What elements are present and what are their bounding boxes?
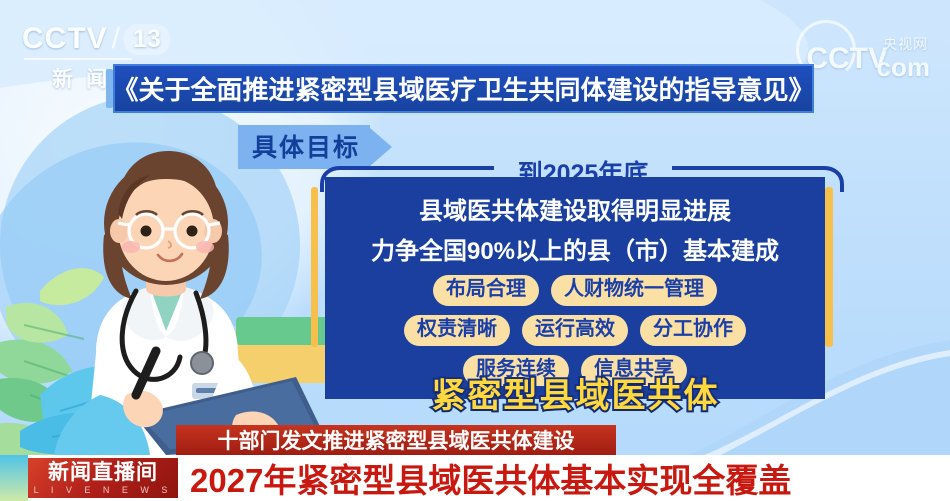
pill-row-1: 布局合理 人财物统一管理 xyxy=(325,275,825,306)
goal-pill: 权责清晰 xyxy=(404,315,510,346)
pill-row-2: 权责清晰 运行高效 分工协作 xyxy=(325,315,825,346)
goal-pill: 人财物统一管理 xyxy=(551,275,717,306)
document-title-banner: 《关于全面推进紧密型县域医疗卫生共同体建设的指导意见》 xyxy=(113,64,814,113)
card-body: 县域医共体建设取得明显进展 力争全国90%以上的县（市）基本建成 布局合理 人财… xyxy=(325,177,825,399)
card-line-1: 县域医共体建设取得明显进展 xyxy=(325,191,825,226)
stethoscope-chestpiece xyxy=(191,352,213,374)
sub-banner: 十部门发文推进紧密型县域医共体建设 xyxy=(176,425,616,455)
sub-banner-text: 十部门发文推进紧密型县域医共体建设 xyxy=(218,425,575,455)
program-name-en: L I V E N E W S xyxy=(34,486,173,495)
program-name-cn: 新闻直播间 xyxy=(48,462,158,483)
card-line-2: 力争全国90%以上的县（市）基本建成 xyxy=(325,231,825,266)
card-accent-left xyxy=(311,187,318,347)
goal-pill: 运行高效 xyxy=(522,315,628,346)
logo-slash-icon: / xyxy=(112,22,120,56)
goal-pill: 布局合理 xyxy=(433,275,539,306)
lower-third-edge xyxy=(0,455,28,501)
program-logo: 新闻直播间 L I V E N E W S xyxy=(28,458,178,498)
lower-third-headline: 2027年紧密型县域医共体基本实现全覆盖 xyxy=(190,455,791,501)
cctv-wordmark: CCTV xyxy=(22,22,108,56)
highlight-text: 紧密型县域医共体 xyxy=(318,368,833,417)
logo-underline xyxy=(24,58,132,60)
document-title: 《关于全面推进紧密型县域医疗卫生共同体建设的指导意见》 xyxy=(113,70,815,107)
watermark-chinese: 央视网 xyxy=(883,34,928,54)
broadcast-screen: CCTV / 13 新闻 CCTV com 央视网 xyxy=(0,0,950,501)
lower-third-headline-text: 2027年紧密型县域医共体基本实现全覆盖 xyxy=(190,454,791,501)
watermark-domain: com xyxy=(877,52,930,83)
title-accent-bar xyxy=(106,69,113,108)
channel-number: 13 xyxy=(124,24,170,55)
lower-third: 新闻直播间 L I V E N E W S 2027年紧密型县域医共体基本实现全… xyxy=(0,455,950,501)
goal-pill: 分工协作 xyxy=(640,315,746,346)
card-accent-right xyxy=(825,187,833,347)
